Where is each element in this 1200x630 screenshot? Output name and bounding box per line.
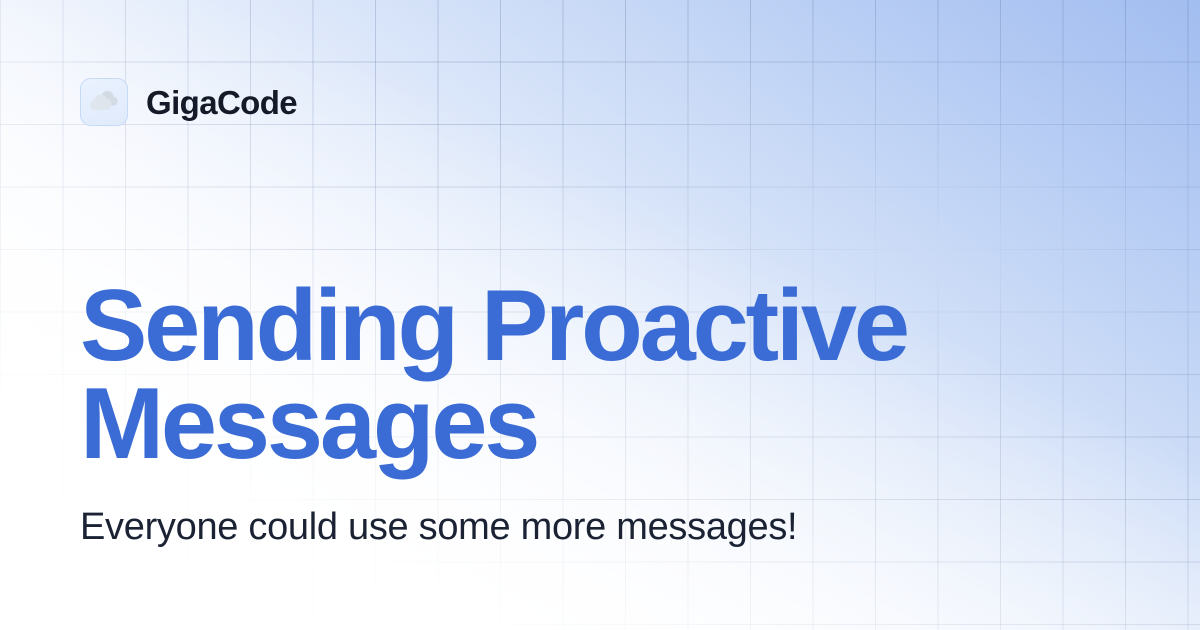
- page-title-line-1: Sending Proactive: [80, 278, 1030, 376]
- page-title-line-2: Messages: [80, 376, 1030, 474]
- brand-logo-box: [80, 78, 128, 126]
- cloud-icon: [89, 89, 119, 115]
- page-subtitle: Everyone could use some more messages!: [80, 506, 797, 549]
- card-content: GigaCode Sending Proactive Messages Ever…: [0, 0, 1200, 630]
- og-card: GigaCode Sending Proactive Messages Ever…: [0, 0, 1200, 630]
- brand-lockup: GigaCode: [80, 78, 1120, 126]
- brand-name: GigaCode: [146, 86, 297, 119]
- page-title: Sending Proactive Messages: [80, 278, 1030, 474]
